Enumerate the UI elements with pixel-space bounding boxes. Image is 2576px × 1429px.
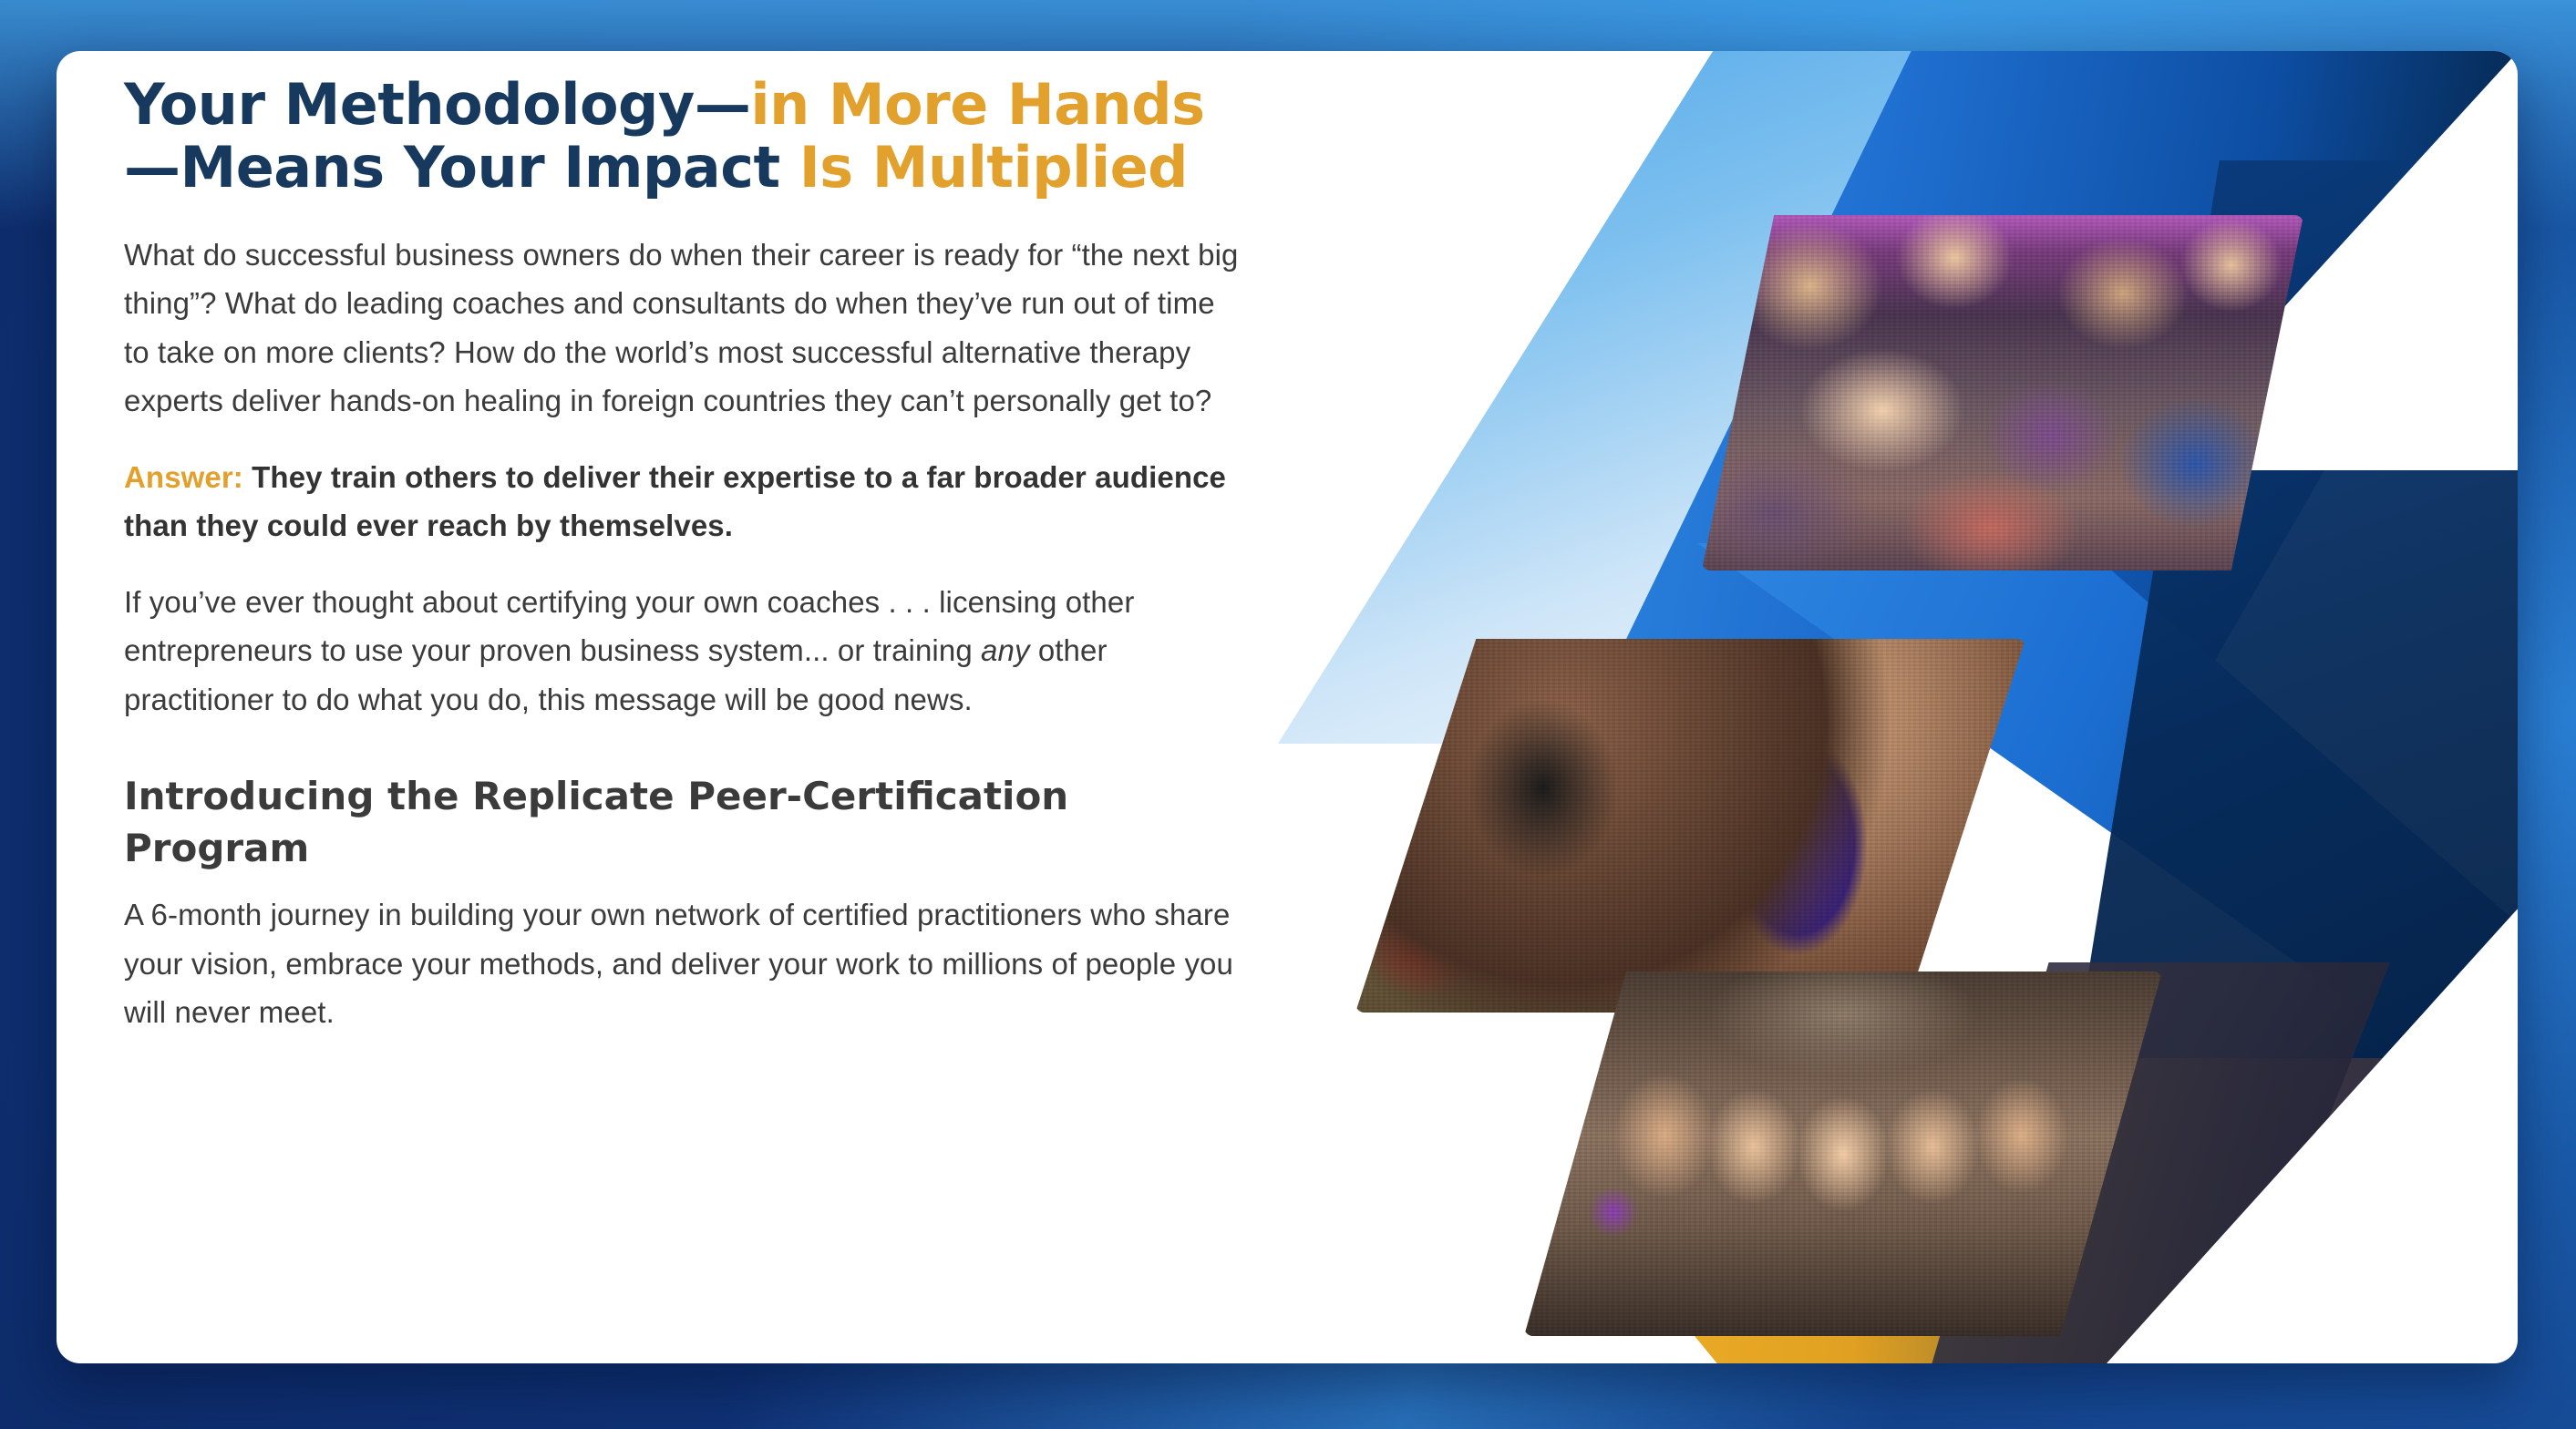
headline-line2-accent: Is Multiplied: [799, 134, 1188, 200]
photo-texture: [1524, 972, 2162, 1336]
paragraph-program-description: A 6-month journey in building your own n…: [124, 890, 1245, 1036]
answer-text: They train others to deliver their exper…: [124, 460, 1226, 542]
paragraph-intro: What do successful business owners do wh…: [124, 231, 1245, 426]
photo-texture: [1702, 215, 2303, 571]
emphasis-any: any: [981, 633, 1030, 667]
text-column: Your Methodology—in More Hands —Means Yo…: [124, 73, 1245, 1064]
answer-label: Answer:: [124, 460, 243, 494]
slide-card: Your Methodology—in More Hands —Means Yo…: [57, 51, 2518, 1363]
headline-line2-dark: —Means Your Impact: [124, 134, 799, 200]
photo-thumbs-up-group: [1524, 972, 2162, 1336]
headline-line1-accent: in More Hands: [750, 71, 1204, 138]
chevron-graphic: [1223, 51, 2518, 1363]
paragraph-certifying: If you’ve ever thought about certifying …: [124, 578, 1245, 724]
section-subheading: Introducing the Replicate Peer-Certifica…: [124, 771, 1245, 874]
page-title: Your Methodology—in More Hands —Means Yo…: [124, 73, 1245, 200]
photo-audience-waving: [1702, 215, 2303, 571]
headline-line1-dark: Your Methodology—: [124, 71, 750, 138]
paragraph-answer: Answer: They train others to deliver the…: [124, 453, 1245, 550]
